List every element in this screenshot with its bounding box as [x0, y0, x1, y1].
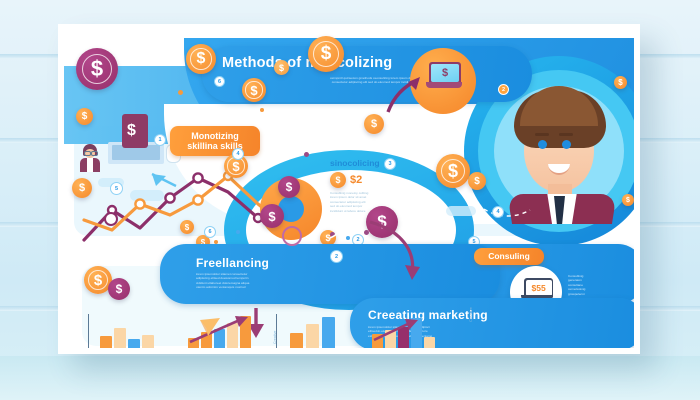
deco-dot	[236, 230, 240, 234]
avatar-eye	[538, 140, 547, 149]
deco-dot	[178, 90, 183, 95]
coin-purple-large: $	[76, 48, 118, 90]
coin-symbol: $	[335, 175, 340, 185]
price-coin-icon: $	[330, 172, 346, 188]
laptop-dollar-icon: $	[431, 64, 459, 82]
bar	[128, 339, 140, 348]
bar-chart-4: Clanoling forminline	[368, 314, 454, 348]
laptop-screen: $	[429, 62, 461, 84]
coin-orange: $	[186, 44, 216, 74]
center-price: $2	[350, 174, 362, 186]
chart-side-label: Creative	[468, 307, 473, 322]
consulting-chip[interactable]: Consuling	[474, 248, 544, 265]
badge-4: 4	[232, 148, 244, 160]
curved-arrow-icon	[364, 216, 434, 286]
badge-6: 6	[204, 226, 216, 238]
badge-1: 1	[154, 134, 166, 146]
bar	[100, 336, 112, 348]
paper-plane-icon	[198, 316, 222, 338]
badge-2: 2	[498, 84, 509, 95]
badge-4: 4	[492, 206, 504, 218]
deco-dot	[260, 108, 264, 112]
laptop-base	[426, 82, 462, 88]
badge-5: 5	[110, 182, 123, 195]
coin-orange-small: $	[274, 60, 289, 75]
purple-arrow-icon	[384, 74, 424, 116]
coin-orange: $	[436, 154, 470, 188]
poster-canvas: $	[64, 30, 634, 348]
bar	[114, 328, 126, 348]
badge-6: 6	[214, 76, 225, 87]
person-icon	[78, 144, 102, 170]
deco-dot	[304, 152, 309, 157]
coin-purple: $	[278, 176, 300, 198]
phone-dollar-icon: $	[127, 122, 136, 140]
bar-chart-2: Freelance	[182, 314, 268, 348]
ring-deco	[282, 226, 302, 246]
floor	[0, 356, 700, 400]
coin-purple: $	[260, 204, 284, 228]
coin-orange-small: $	[614, 76, 627, 89]
avatar-hair-highlight	[520, 86, 598, 126]
center-text-block: sinocolicing $ $2 Consultinig moneloy co…	[330, 158, 430, 213]
coin-orange-small: $	[72, 178, 92, 198]
monetizing-skills-chip[interactable]: Monotizing skillina skills	[170, 126, 260, 156]
screenshot-stage: $	[0, 0, 700, 400]
bar-chart-3: Creative Conrbaladucin	[276, 314, 362, 348]
bar	[142, 335, 154, 348]
infographic-poster: $	[58, 24, 640, 354]
freelancing-title: Freellancing	[196, 256, 269, 270]
badge-2: 2	[330, 250, 343, 263]
laptop-icon: $	[426, 62, 462, 92]
chip-label: Consuling	[488, 252, 530, 262]
bar	[322, 317, 335, 348]
laptop-price: $55	[526, 280, 552, 296]
bar	[306, 324, 319, 348]
center-label: sinocolicing	[330, 158, 430, 168]
bar	[290, 333, 303, 348]
coin-purple: $	[108, 278, 130, 300]
avatar-eyebrow	[535, 133, 549, 136]
coin-orange: $	[242, 78, 266, 102]
freelancing-banner: Freellancing lorem ipsumdolor sitamet co…	[160, 244, 500, 304]
badge-3: 3	[384, 158, 396, 170]
squiggle-icon	[326, 216, 356, 242]
consulting-body: Consultinig generaion consultane cerveri…	[568, 274, 612, 296]
y-axis	[88, 314, 89, 348]
coin-orange-small: $	[364, 114, 384, 134]
trend-arrow-icon	[370, 316, 430, 346]
bar-chart-1: Freelancing	[88, 314, 174, 348]
avatar-eye	[562, 140, 571, 149]
chart-y-label: Creative	[273, 331, 277, 344]
coin-orange-small: $	[76, 108, 93, 125]
coin-orange: $	[308, 36, 344, 72]
coin-orange-small: $	[622, 194, 634, 206]
avatar-eyebrow	[559, 133, 573, 136]
avatar-jacket	[571, 194, 616, 224]
line-marker	[104, 212, 118, 226]
page-title: Methods of moncolizing	[222, 55, 392, 71]
coin-orange-small: $	[180, 220, 194, 234]
freelancing-body: lorem ipsumdolor sitamet consectetur adi…	[196, 272, 346, 290]
bar-charts-row: Freelancing Freelance	[80, 314, 460, 348]
coin-orange-small: $	[468, 172, 486, 190]
